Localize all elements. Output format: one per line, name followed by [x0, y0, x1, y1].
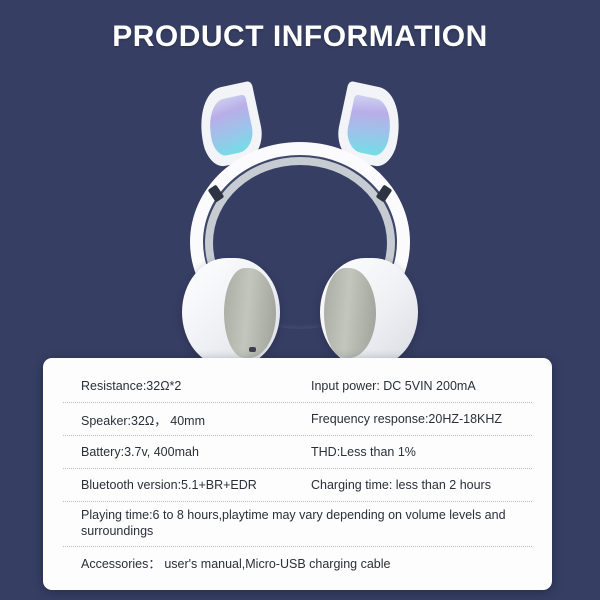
table-row: Bluetooth version:5.1+BR+EDR Charging ti…	[63, 469, 532, 502]
cat-ear-right-led	[343, 94, 396, 158]
spec-charging-time: Charging time: less than 2 hours	[293, 478, 532, 492]
spec-accessories: Accessories： user's manual,Micro-USB cha…	[63, 557, 532, 573]
specification-card: Resistance:32Ω*2 Input power: DC 5VIN 20…	[43, 358, 552, 590]
specification-table: Resistance:32Ω*2 Input power: DC 5VIN 20…	[63, 358, 532, 590]
spec-playing-time: Playing time:6 to 8 hours,playtime may v…	[63, 508, 532, 539]
cat-ear-left-led	[204, 94, 257, 158]
earcup-left	[182, 258, 280, 366]
spec-speaker: Speaker:32Ω， 40mm	[63, 410, 293, 429]
table-row: Playing time:6 to 8 hours,playtime may v…	[63, 502, 532, 547]
table-row: Resistance:32Ω*2 Input power: DC 5VIN 20…	[63, 370, 532, 403]
table-row: Accessories： user's manual,Micro-USB cha…	[63, 547, 532, 583]
earcup-right-cushion	[324, 268, 376, 358]
spec-frequency-response: Frequency response:20HZ-18KHZ	[293, 412, 532, 426]
charging-port-icon	[249, 347, 256, 352]
page-title: PRODUCT INFORMATION	[0, 20, 600, 54]
earcup-left-cushion	[224, 268, 276, 358]
spec-resistance: Resistance:32Ω*2	[63, 379, 293, 393]
table-row: Speaker:32Ω， 40mm Frequency response:20H…	[63, 403, 532, 436]
product-image	[0, 72, 600, 372]
headphones-illustration	[182, 80, 418, 370]
spec-battery: Battery:3.7v, 400mah	[63, 445, 293, 459]
spec-input-power: Input power: DC 5VIN 200mA	[293, 379, 532, 393]
table-row: Battery:3.7v, 400mah THD:Less than 1%	[63, 436, 532, 469]
earcup-right	[320, 258, 418, 366]
spec-thd: THD:Less than 1%	[293, 445, 532, 459]
spec-bluetooth-version: Bluetooth version:5.1+BR+EDR	[63, 478, 293, 492]
